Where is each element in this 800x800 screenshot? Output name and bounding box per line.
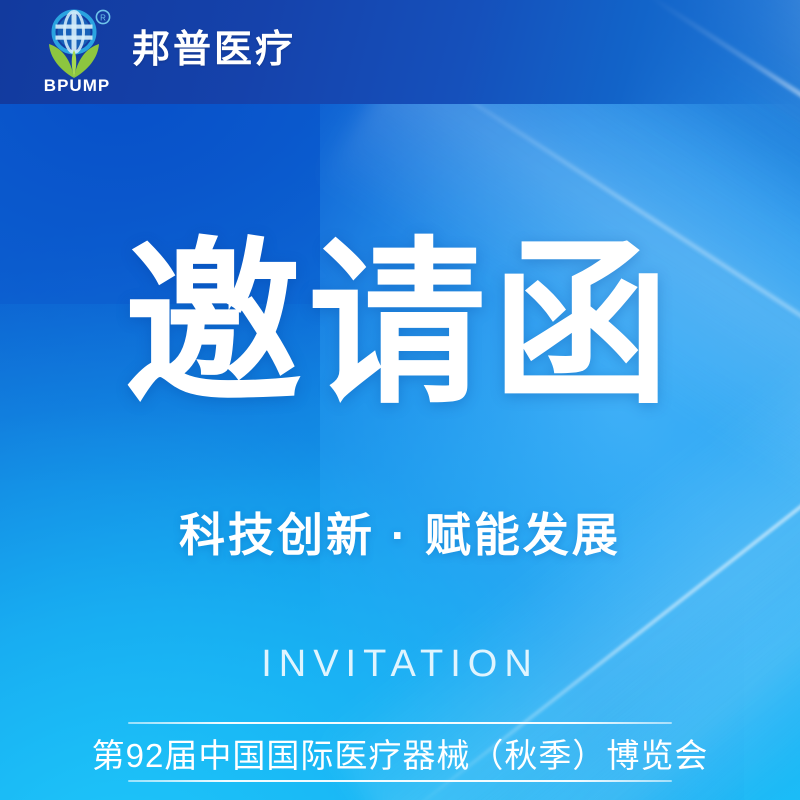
invitation-english-label: INVITATION <box>0 645 800 683</box>
footer-rule-top <box>128 722 672 724</box>
footer: 第92届中国国际医疗器械（秋季）博览会 <box>128 722 672 788</box>
invitation-poster: R BPUMP 邦普医疗 邀请函 科技创新 · 赋能发展 INVITATION … <box>0 0 800 800</box>
page-title: 邀请函 <box>0 236 800 414</box>
poster-content: 邀请函 科技创新 · 赋能发展 INVITATION <box>0 0 800 800</box>
footer-rule-bottom <box>128 780 672 782</box>
poster-subtitle: 科技创新 · 赋能发展 <box>0 508 800 563</box>
event-name: 第92届中国国际医疗器械（秋季）博览会 <box>82 734 718 778</box>
